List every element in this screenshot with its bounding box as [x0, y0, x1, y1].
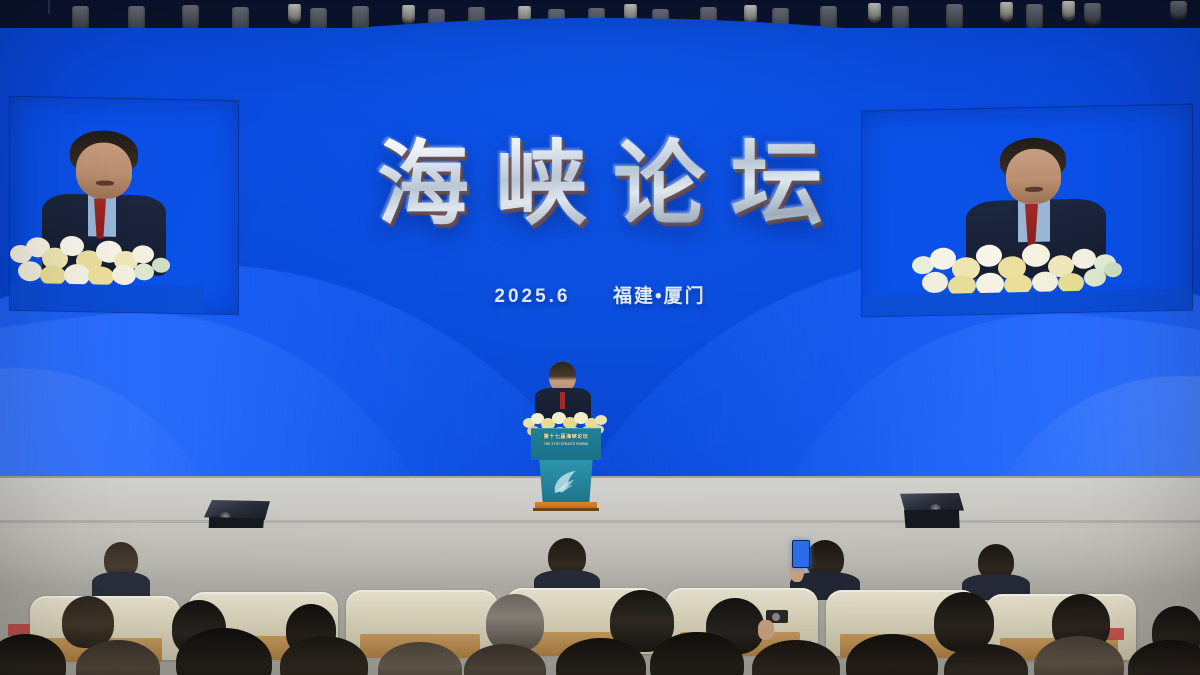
- smartphone-screen[interactable]: [792, 540, 810, 568]
- stage-light-icon: [1062, 1, 1075, 21]
- speaker-tie: [560, 392, 565, 409]
- audience-head: [486, 594, 544, 652]
- camera-lens-icon: [772, 613, 780, 621]
- podium-banner-panel: 第十七届海峡论坛 THE 17TH STRAITS FORUM: [531, 428, 601, 460]
- stage-light-icon: [1170, 1, 1187, 21]
- stage-light-icon: [868, 3, 881, 23]
- stage-light-icon: [402, 5, 415, 25]
- backdrop-subtitle-block: 2025.6 福建•厦门: [0, 281, 1200, 308]
- stage-light-icon: [1084, 3, 1101, 27]
- forum-date: 2025.6: [494, 286, 570, 308]
- audience-area: [0, 528, 1200, 675]
- audience-hand: [758, 620, 774, 640]
- podium-banner-en: THE 17TH STRAITS FORUM: [531, 442, 601, 446]
- stage-light-icon: [1000, 2, 1013, 22]
- dove-emblem-icon: [549, 466, 583, 498]
- forum-location: 福建•厦门: [613, 281, 706, 308]
- podium: 第十七届海峡论坛 THE 17TH STRAITS FORUM: [513, 362, 617, 510]
- audience-head: [934, 592, 994, 652]
- stage-light-icon: [288, 4, 301, 24]
- stage-photo: 海峡论坛 2025.6 福建•厦门: [0, 0, 1200, 675]
- podium-banner-cn: 第十七届海峡论坛: [531, 433, 601, 440]
- podium-base-shadow: [533, 508, 599, 511]
- audience-shoulders: [92, 572, 150, 598]
